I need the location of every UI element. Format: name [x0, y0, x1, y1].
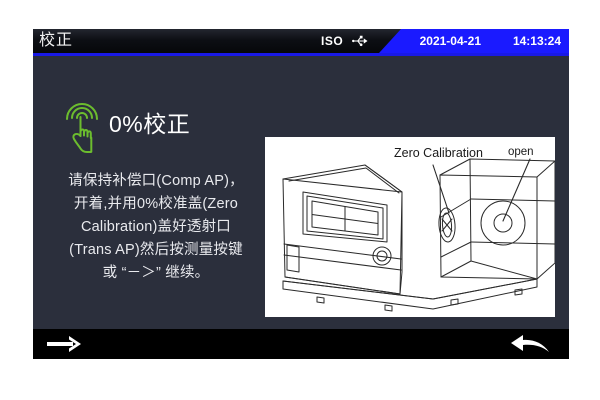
bottom-bar — [33, 329, 569, 359]
screenshot-root: 校正 ISO 2021-04-21 14:13:24 — [0, 0, 600, 400]
instrument-diagram-panel: Zero Calibration open — [265, 137, 555, 317]
instruction-line-2: 开着,并用0%校准盖(Zero — [41, 193, 271, 216]
page-title: 校正 — [39, 30, 73, 52]
back-button[interactable] — [509, 331, 553, 357]
instruction-line-3: Calibration)盖好透射口 — [41, 216, 271, 239]
instrument-diagram: Zero Calibration open — [265, 137, 555, 317]
arrow-back-curved-icon — [511, 335, 549, 352]
status-date: 2021-04-21 — [420, 32, 481, 50]
diagram-label-zero-calibration: Zero Calibration — [394, 146, 483, 160]
content-area: 0%校正 请保持补偿口(Comp AP)， 开着,并用0%校准盖(Zero Ca… — [33, 56, 569, 329]
instruction-text: 请保持补偿口(Comp AP)， 开着,并用0%校准盖(Zero Calibra… — [41, 170, 271, 285]
arrow-right-icon — [47, 336, 81, 352]
usb-icon — [351, 33, 369, 49]
diagram-label-open: open — [508, 146, 534, 158]
status-clock: 14:13:24 — [513, 32, 561, 50]
instruction-line-4: (Trans AP)然后按测量按键 — [41, 239, 271, 262]
iso-standard-label: ISO — [321, 32, 343, 50]
title-bar: 校正 ISO 2021-04-21 14:13:24 — [33, 29, 569, 53]
device-screen: 校正 ISO 2021-04-21 14:13:24 — [33, 29, 569, 359]
instruction-line-5: 或 “－＞” 继续。 — [41, 262, 271, 285]
touch-gesture-icon — [57, 98, 103, 154]
next-button[interactable] — [43, 331, 89, 357]
calibration-heading: 0%校正 — [109, 108, 190, 140]
instruction-line-1: 请保持补偿口(Comp AP)， — [41, 170, 271, 193]
